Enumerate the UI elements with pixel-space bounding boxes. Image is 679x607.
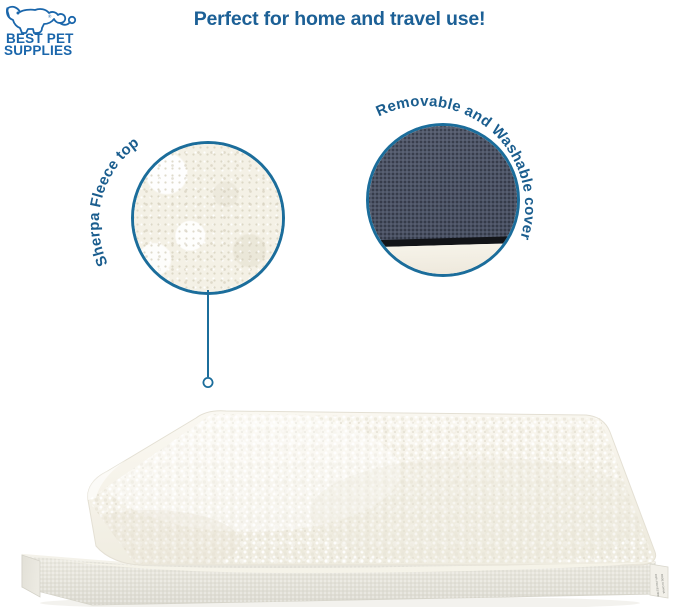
bed-sherpa-texture [60, 407, 670, 574]
foam-core-layer [366, 242, 520, 277]
swatch-circle-sherpa [131, 141, 285, 295]
brand-name-line2: SUPPLIES [4, 43, 72, 58]
callout-removable-washable-cover [366, 123, 520, 277]
infographic-canvas: ® BEST PET SUPPLIES Perfect for home and… [0, 0, 679, 607]
callout-sherpa-fleece-top [131, 141, 285, 295]
bed-side-left-cap [22, 555, 40, 597]
sherpa-texture-fill [134, 144, 282, 292]
cover-fill [369, 126, 517, 274]
care-label-tag: 100% POLYESTER MADE IN CHINA [650, 564, 668, 598]
product-pet-bed-mattress: 100% POLYESTER MADE IN CHINA [0, 352, 679, 607]
page-title: Perfect for home and travel use! [0, 8, 679, 31]
cover-fabric-texture [366, 123, 520, 244]
swatch-circle-cover [366, 123, 520, 277]
